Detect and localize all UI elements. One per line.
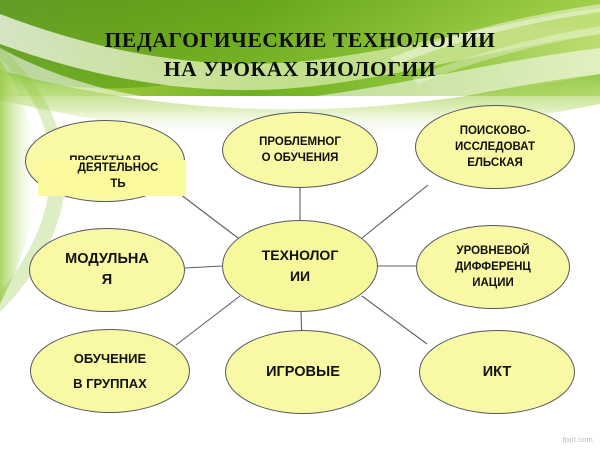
node-ikt[interactable]: ИКТ <box>419 330 575 414</box>
node-urovnevoj-label: УРОВНЕВОЙ ДИФФЕРЕНЦ ИАЦИИ <box>449 243 537 291</box>
slide-title: ПЕДАГОГИЧЕСКИЕ ТЕХНОЛОГИИ НА УРОКАХ БИОЛ… <box>0 26 600 84</box>
title-line-2: НА УРОКАХ БИОЛОГИИ <box>0 55 600 84</box>
node-problemnoe[interactable]: ПРОБЛЕМНОГ О ОБУЧЕНИЯ <box>222 112 378 188</box>
node-modulnaya[interactable]: МОДУЛЬНА Я <box>29 228 185 312</box>
node-urovnevoj[interactable]: УРОВНЕВОЙ ДИФФЕРЕНЦ ИАЦИИ <box>416 225 570 309</box>
connector-center-modulnaya <box>185 266 222 268</box>
node-igrovye[interactable]: ИГРОВЫЕ <box>225 330 381 414</box>
slide-canvas: ПЕДАГОГИЧЕСКИЕ ТЕХНОЛОГИИ НА УРОКАХ БИОЛ… <box>0 0 600 450</box>
node-poiskovo[interactable]: ПОИСКОВО- ИССЛЕДОВАТ ЕЛЬСКАЯ <box>415 105 575 189</box>
fppt-watermark: fppt.com <box>563 435 593 444</box>
node-proektnaya-highlight-box[interactable]: ДЕЯТЕЛЬНОС ТЬ <box>38 160 186 196</box>
node-tehnologii-center[interactable]: ТЕХНОЛОГ ИИ <box>222 220 378 312</box>
node-igrovye-label: ИГРОВЫЕ <box>260 362 346 383</box>
connector-center-poiskovo <box>362 185 428 238</box>
node-modulnaya-label: МОДУЛЬНА Я <box>59 249 155 291</box>
node-poiskovo-label: ПОИСКОВО- ИССЛЕДОВАТ ЕЛЬСКАЯ <box>449 123 541 171</box>
node-ikt-label: ИКТ <box>477 362 518 383</box>
title-line-1: ПЕДАГОГИЧЕСКИЕ ТЕХНОЛОГИИ <box>0 26 600 55</box>
connector-center-v-gruppah <box>176 296 240 345</box>
node-tehnologii-label: ТЕХНОЛОГ ИИ <box>256 245 345 287</box>
node-proektnaya-label-wrapped: ДЕЯТЕЛЬНОС ТЬ <box>38 160 198 192</box>
connector-center-ikt <box>362 296 427 344</box>
node-v-gruppah-label: ОБУЧЕНИЕ В ГРУППАХ <box>67 346 153 396</box>
node-problemnoe-label: ПРОБЛЕМНОГ О ОБУЧЕНИЯ <box>253 134 347 166</box>
node-v-gruppah[interactable]: ОБУЧЕНИЕ В ГРУППАХ <box>30 329 190 413</box>
